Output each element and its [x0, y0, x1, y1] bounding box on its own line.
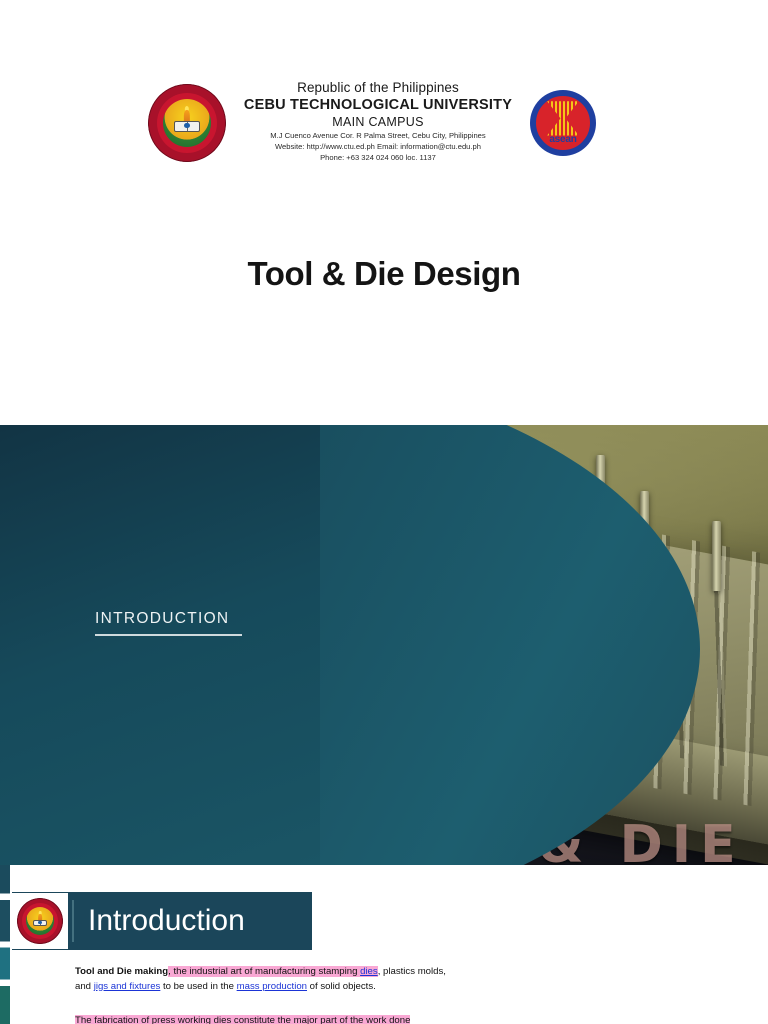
seal-emblem-dot: [184, 123, 190, 129]
term-tool-and-die-making: Tool and Die making: [75, 966, 168, 977]
slide-edge-accent-strip: [0, 865, 10, 1024]
letterhead-phone: Phone: +63 324 024 060 loc. 1137: [234, 154, 522, 163]
page-title: Tool & Die Design: [0, 255, 768, 293]
header-seal-emblem-dot: [38, 921, 41, 924]
highlighted-phrase: , the industrial art of manufacturing st…: [168, 966, 360, 977]
slide-header-bar: Introduction: [12, 892, 312, 950]
link-dies[interactable]: dies: [360, 966, 378, 977]
paragraph-mid-2: to be used in the: [160, 981, 236, 992]
slide-title: Republic of the Philippines CEBU TECHNOL…: [0, 0, 768, 425]
letterhead-campus: MAIN CAMPUS: [234, 115, 522, 130]
paragraph-tail: of solid objects.: [307, 981, 376, 992]
ctu-seal-icon: [148, 84, 226, 162]
body-text: Tool and Die making, the industrial art …: [75, 965, 455, 1002]
asean-emblem-icon: asean: [530, 90, 596, 156]
letterhead-text: Republic of the Philippines CEBU TECHNOL…: [226, 80, 530, 163]
section-label-block: INTRODUCTION: [95, 610, 355, 636]
paragraph-fabrication-clipped: The fabrication of press working dies co…: [75, 1014, 485, 1024]
link-mass-production[interactable]: mass production: [237, 981, 307, 992]
header-ctu-seal-icon: [12, 893, 68, 949]
letterhead-web-email: Website: http://www.ctu.ed.ph Email: inf…: [234, 143, 522, 152]
photo-guide-post-4: [712, 521, 721, 591]
link-jigs-and-fixtures[interactable]: jigs and fixtures: [94, 981, 161, 992]
presentation-page: Republic of the Philippines CEBU TECHNOL…: [0, 0, 768, 1024]
paragraph-fabrication-text: The fabrication of press working dies co…: [75, 1015, 410, 1024]
section-label-text: INTRODUCTION: [95, 610, 355, 628]
letterhead-university: CEBU TECHNOLOGICAL UNIVERSITY: [234, 97, 522, 114]
asean-wordmark: asean: [530, 134, 596, 145]
section-label-underline: [95, 634, 242, 636]
letterhead-republic: Republic of the Philippines: [234, 80, 522, 96]
university-letterhead: Republic of the Philippines CEBU TECHNOL…: [148, 80, 596, 180]
teal-left-fill: [0, 425, 320, 865]
slide-introduction-cover: TOOL & DIE: [0, 425, 768, 865]
section-heading: Introduction: [74, 904, 245, 938]
paragraph-definition: Tool and Die making, the industrial art …: [75, 965, 455, 994]
letterhead-address: M.J Cuenco Avenue Cor. R Palma Street, C…: [234, 132, 522, 141]
seal-center: [163, 99, 211, 147]
